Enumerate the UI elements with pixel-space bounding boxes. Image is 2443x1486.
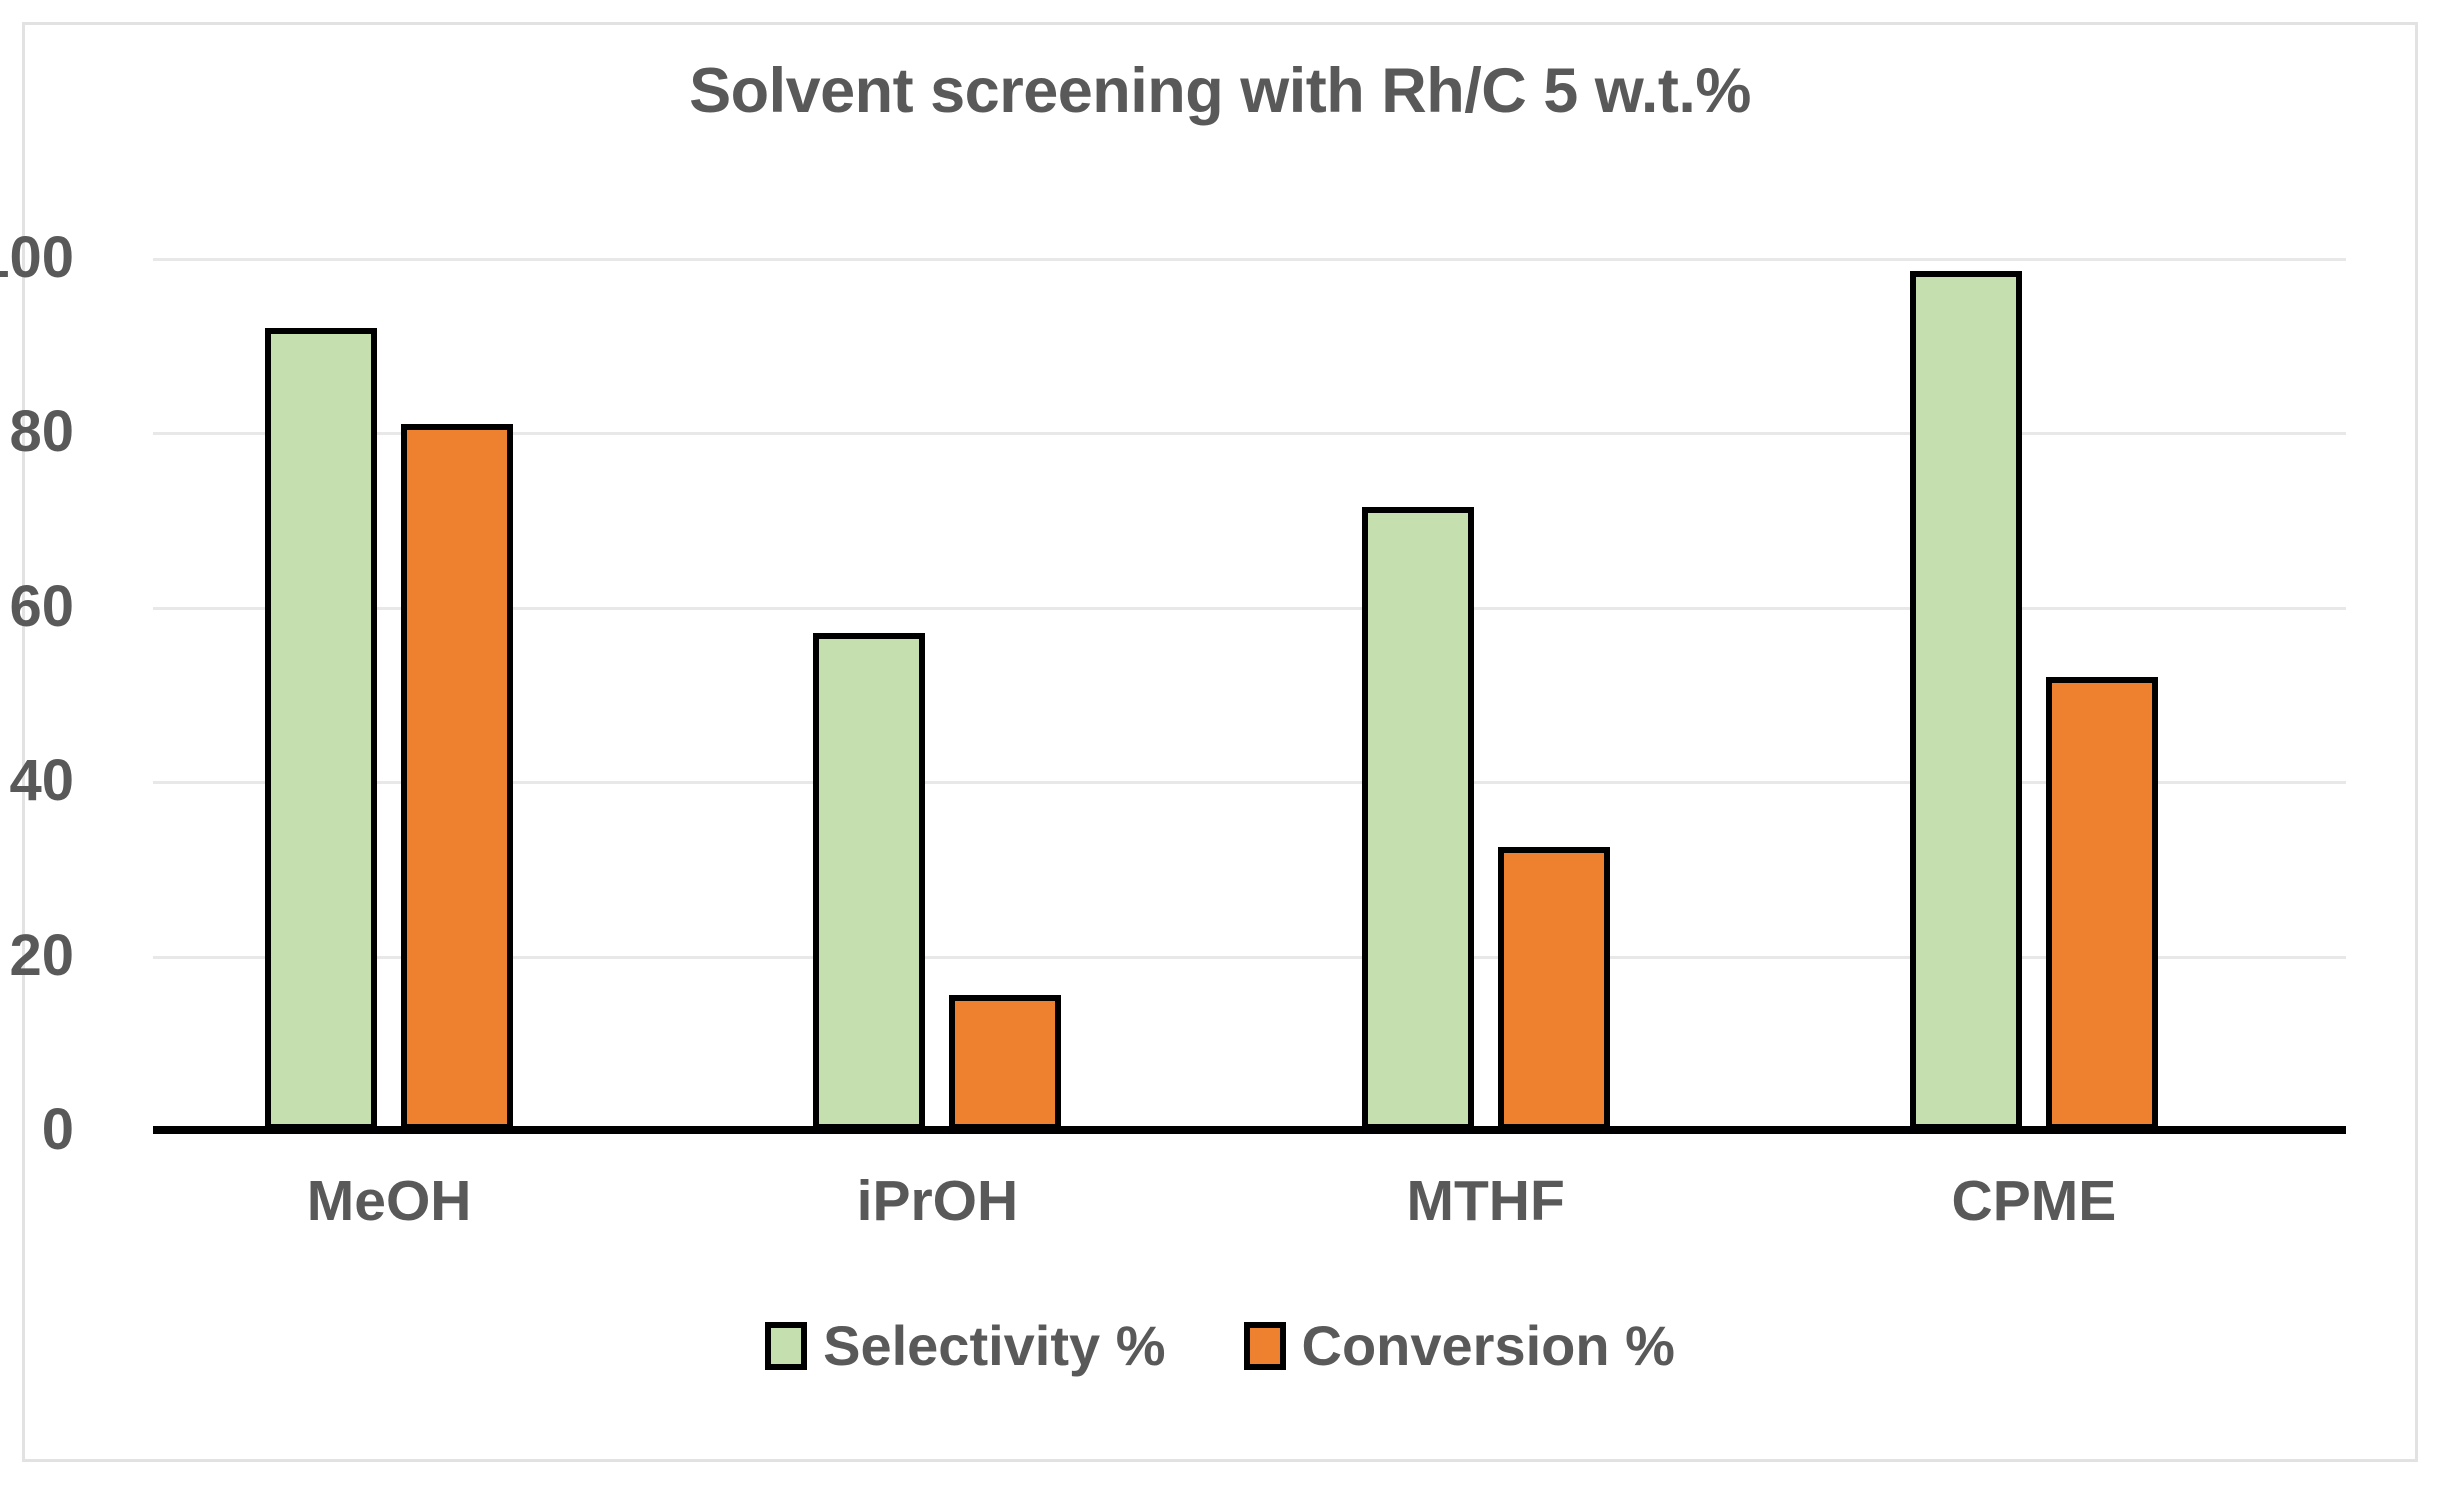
legend-item-selectivity[interactable]: Selectivity % xyxy=(765,1313,1165,1378)
bar-cpme-selectivity[interactable] xyxy=(1910,271,2022,1130)
chart-legend: Selectivity %Conversion % xyxy=(25,1313,2415,1378)
bar-cpme-conversion[interactable] xyxy=(2046,677,2158,1130)
x-axis-tick-label-cpme: CPME xyxy=(1952,1168,2117,1234)
legend-label: Selectivity % xyxy=(823,1313,1165,1378)
x-axis-tick-label-mthf: MTHF xyxy=(1406,1168,1564,1234)
y-axis-tick-label: 40 xyxy=(0,752,74,810)
y-axis-tick-label: 0 xyxy=(0,1101,74,1159)
chart-title: Solvent screening with Rh/C 5 w.t.% xyxy=(25,55,2415,127)
chart-frame: Solvent screening with Rh/C 5 w.t.% 0204… xyxy=(22,22,2418,1462)
bar-mthf-selectivity[interactable] xyxy=(1362,507,1474,1130)
y-axis-tick-label: 20 xyxy=(0,927,74,985)
y-axis-tick-label: 100 xyxy=(0,229,74,287)
y-axis-tick-label: 80 xyxy=(0,403,74,461)
gridline xyxy=(153,258,2346,261)
bar-meoh-selectivity[interactable] xyxy=(265,328,377,1130)
bar-mthf-conversion[interactable] xyxy=(1498,847,1610,1130)
x-axis-tick-label-iproh: iPrOH xyxy=(857,1168,1019,1234)
y-axis-tick-label: 60 xyxy=(0,578,74,636)
legend-swatch-icon xyxy=(765,1322,807,1370)
bar-iproh-conversion[interactable] xyxy=(949,995,1061,1130)
legend-label: Conversion % xyxy=(1302,1313,1675,1378)
x-axis-line xyxy=(153,1126,2346,1134)
x-axis-tick-label-meoh: MeOH xyxy=(307,1168,472,1234)
legend-swatch-icon xyxy=(1244,1322,1286,1370)
bar-iproh-selectivity[interactable] xyxy=(813,633,925,1130)
legend-item-conversion[interactable]: Conversion % xyxy=(1244,1313,1675,1378)
plot-area xyxy=(153,258,2346,1130)
bar-meoh-conversion[interactable] xyxy=(401,424,513,1130)
